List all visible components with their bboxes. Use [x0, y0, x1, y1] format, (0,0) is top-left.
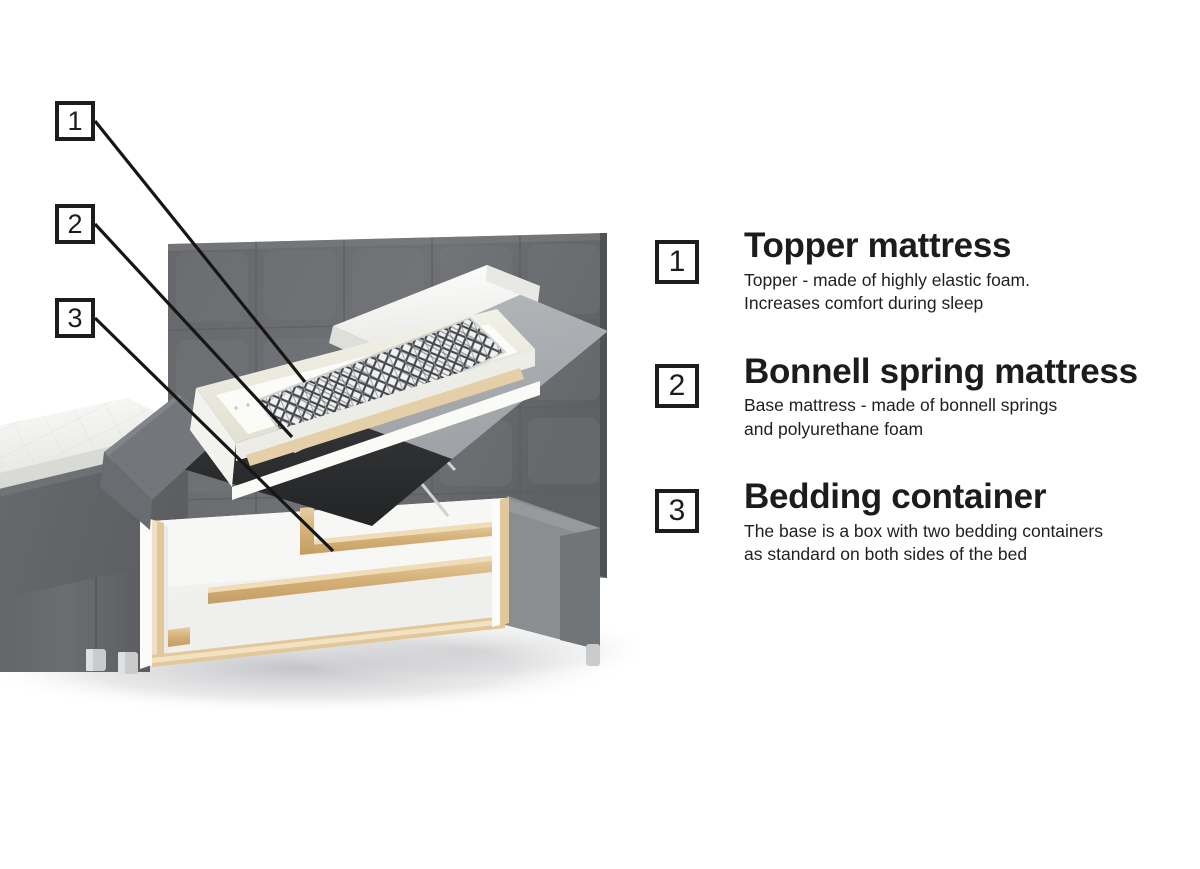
- legend-item-bedding-container: 3 Bedding container The base is a box wi…: [655, 479, 1195, 567]
- legend-number-box-3: 3: [655, 489, 699, 533]
- legend-number-box-2: 2: [655, 364, 699, 408]
- legend-list: 1 Topper mattress Topper - made of highl…: [655, 228, 1195, 567]
- callout-marker-1-number: 1: [67, 108, 82, 135]
- legend-description-2: Base mattress - made of bonnell springs …: [744, 394, 1195, 441]
- legend-text-3: Bedding container The base is a box with…: [744, 479, 1195, 567]
- legend-text-2: Bonnell spring mattress Base mattress - …: [744, 354, 1195, 442]
- callout-marker-2-number: 2: [67, 211, 82, 238]
- infographic-page: 1 2 3 1 Topper mattress Topper - made of…: [0, 0, 1200, 869]
- callout-marker-1: 1: [55, 101, 95, 141]
- legend-title-2: Bonnell spring mattress: [744, 354, 1195, 391]
- legend-item-bonnell-spring-mattress: 2 Bonnell spring mattress Base mattress …: [655, 354, 1195, 442]
- legend-number-3: 3: [669, 496, 686, 526]
- product-image: [0, 0, 640, 720]
- legend-description-1: Topper - made of highly elastic foam. In…: [744, 269, 1195, 316]
- legend-description-3: The base is a box with two bedding conta…: [744, 520, 1195, 567]
- legend-number-box-1: 1: [655, 240, 699, 284]
- legend-number-2: 2: [669, 371, 686, 401]
- legend-title-1: Topper mattress: [744, 228, 1195, 265]
- callout-marker-3-number: 3: [67, 305, 82, 332]
- legend-title-3: Bedding container: [744, 479, 1195, 516]
- callout-marker-3: 3: [55, 298, 95, 338]
- legend-item-topper-mattress: 1 Topper mattress Topper - made of highl…: [655, 228, 1195, 316]
- legend-number-1: 1: [669, 247, 686, 277]
- legend-text-1: Topper mattress Topper - made of highly …: [744, 228, 1195, 316]
- callout-marker-2: 2: [55, 204, 95, 244]
